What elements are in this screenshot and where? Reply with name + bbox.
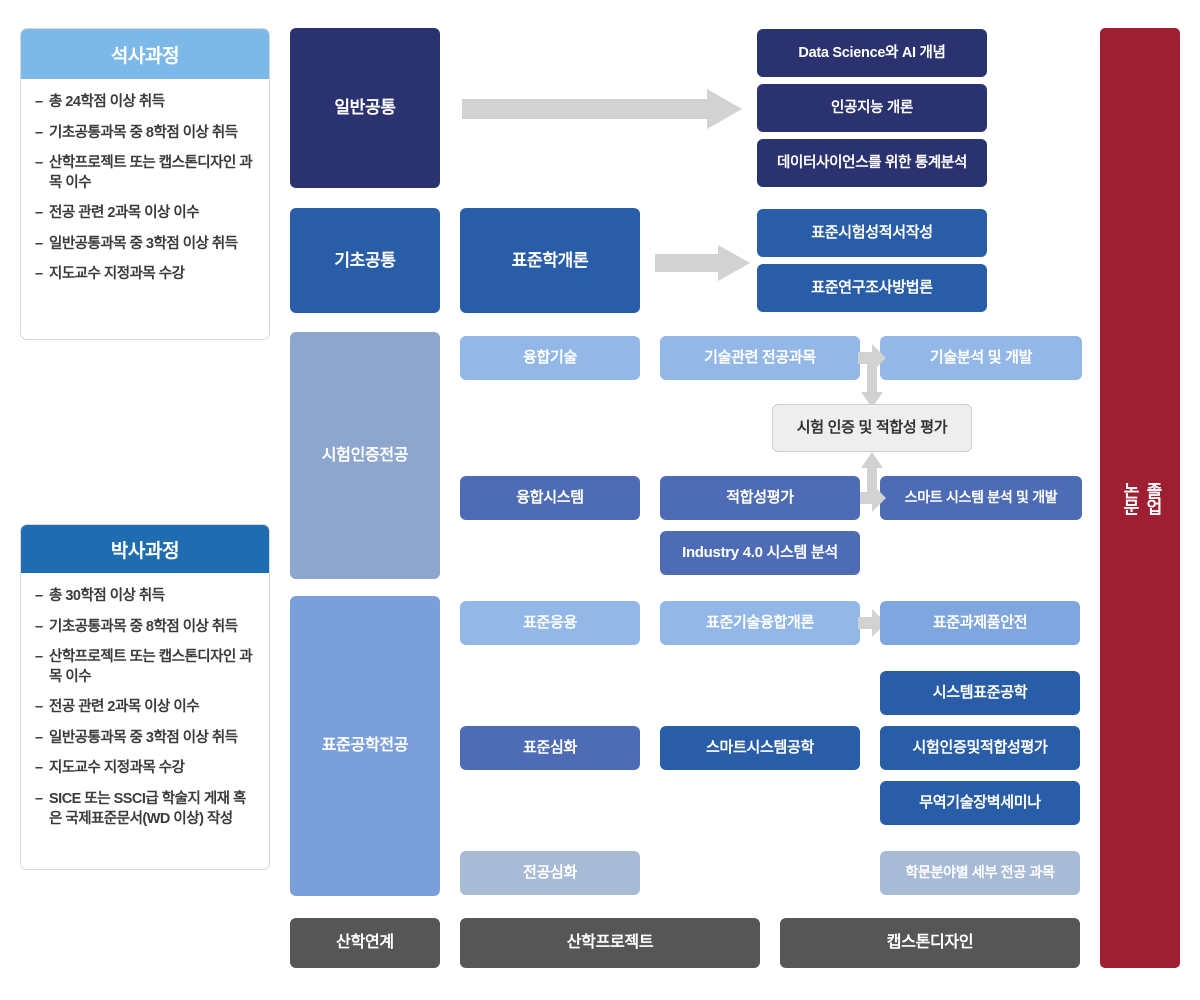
list-item: –일반공통과목 중 3학점 이상 취득 [35, 235, 255, 255]
course-technology-analysis-development[interactable]: 기술분석 및 개발 [880, 336, 1082, 380]
category-standard-engineering-major[interactable]: 표준공학전공 [290, 596, 440, 896]
graduation-thesis-label: 졸업 논문 [1117, 482, 1163, 515]
list-item: –전공 관련 2과목 이상 이수 [35, 698, 255, 718]
bullet-dash-icon: – [35, 124, 49, 144]
bottom-industry-project[interactable]: 산학프로젝트 [460, 918, 760, 968]
list-item: –기초공통과목 중 8학점 이상 취득 [35, 124, 255, 144]
category-basic-common[interactable]: 기초공통 [290, 208, 440, 313]
course-major-advanced[interactable]: 전공심화 [460, 851, 640, 895]
bullet-dash-icon: – [35, 265, 49, 285]
list-item: –기초공통과목 중 8학점 이상 취득 [35, 618, 255, 638]
course-standard-application[interactable]: 표준응용 [460, 601, 640, 645]
course-standard-tech-convergence-intro[interactable]: 표준기술융합개론 [660, 601, 860, 645]
bullet-dash-icon: – [35, 698, 49, 718]
category-test-certification-major[interactable]: 시험인증전공 [290, 332, 440, 579]
arrow-standards-intro-to-courses [655, 245, 750, 281]
arrow-conformity-to-smart-system [860, 484, 886, 512]
course-convergence-system[interactable]: 융합시스템 [460, 476, 640, 520]
course-standard-product-safety[interactable]: 표준과제품안전 [880, 601, 1080, 645]
course-statistics-for-data-science[interactable]: 데이터사이언스를 위한 통계분석 [757, 139, 987, 187]
course-conformity-assessment[interactable]: 적합성평가 [660, 476, 860, 520]
bullet-dash-icon: – [35, 648, 49, 687]
course-data-science-ai[interactable]: Data Science와 AI 개념 [757, 29, 987, 77]
bullet-dash-icon: – [35, 235, 49, 255]
course-test-cert-conformity-evaluation[interactable]: 시험인증및적합성평가 [880, 726, 1080, 770]
masters-panel-title: 석사과정 [111, 41, 179, 68]
course-standard-research-methodology[interactable]: 표준연구조사방법론 [757, 264, 987, 312]
doctoral-panel-header: 박사과정 [21, 525, 269, 573]
course-system-standard-engineering[interactable]: 시스템표준공학 [880, 671, 1080, 715]
list-item: –지도교수 지정과목 수강 [35, 759, 255, 779]
course-smart-system-engineering[interactable]: 스마트시스템공학 [660, 726, 860, 770]
course-standards-introduction[interactable]: 표준학개론 [460, 208, 640, 313]
list-item: –총 30학점 이상 취득 [35, 587, 255, 607]
list-item: –총 24학점 이상 취득 [35, 93, 255, 113]
doctoral-panel-title: 박사과정 [111, 536, 179, 563]
arrow-down-to-evaluation [861, 360, 883, 408]
doctoral-requirements-list: –총 30학점 이상 취득 –기초공통과목 중 8학점 이상 취득 –산학프로젝… [21, 573, 269, 850]
arrow-general-common-to-courses [462, 89, 742, 129]
doctoral-requirements-panel: 박사과정 –총 30학점 이상 취득 –기초공통과목 중 8학점 이상 취득 –… [20, 524, 270, 870]
course-tbt-seminar[interactable]: 무역기술장벽세미나 [880, 781, 1080, 825]
course-technology-related-major[interactable]: 기술관련 전공과목 [660, 336, 860, 380]
bullet-dash-icon: – [35, 93, 49, 113]
course-standard-advanced[interactable]: 표준심화 [460, 726, 640, 770]
list-item: –산학프로젝트 또는 캡스톤디자인 과목 이수 [35, 648, 255, 687]
graduation-thesis-bar[interactable]: 졸업 논문 [1100, 28, 1180, 968]
masters-requirements-list: –총 24학점 이상 취득 –기초공통과목 중 8학점 이상 취득 –산학프로젝… [21, 79, 269, 306]
bullet-dash-icon: – [35, 790, 49, 829]
bullet-dash-icon: – [35, 587, 49, 607]
course-smart-system-analysis-development[interactable]: 스마트 시스템 분석 및 개발 [880, 476, 1082, 520]
course-industry40-system-analysis[interactable]: Industry 4.0 시스템 분석 [660, 531, 860, 575]
course-ai-introduction[interactable]: 인공지능 개론 [757, 84, 987, 132]
list-item: –지도교수 지정과목 수강 [35, 265, 255, 285]
bullet-dash-icon: – [35, 154, 49, 193]
bullet-dash-icon: – [35, 759, 49, 779]
bottom-industry-academic-link[interactable]: 산학연계 [290, 918, 440, 968]
bullet-dash-icon: – [35, 618, 49, 638]
course-convergence-technology[interactable]: 융합기술 [460, 336, 640, 380]
list-item: –일반공통과목 중 3학점 이상 취득 [35, 729, 255, 749]
list-item: –전공 관련 2과목 이상 이수 [35, 204, 255, 224]
masters-panel-header: 석사과정 [21, 29, 269, 79]
evaluation-center-box[interactable]: 시험 인증 및 적합성 평가 [772, 404, 972, 452]
course-standard-test-report-writing[interactable]: 표준시험성적서작성 [757, 209, 987, 257]
bottom-capstone-design[interactable]: 캡스톤디자인 [780, 918, 1080, 968]
bullet-dash-icon: – [35, 729, 49, 749]
category-general-common[interactable]: 일반공통 [290, 28, 440, 188]
bullet-dash-icon: – [35, 204, 49, 224]
masters-requirements-panel: 석사과정 –총 24학점 이상 취득 –기초공통과목 중 8학점 이상 취득 –… [20, 28, 270, 340]
list-item: –SICE 또는 SSCI급 학술지 게재 혹은 국제표준문서(WD 이상) 작… [35, 790, 255, 829]
list-item: –산학프로젝트 또는 캡스톤디자인 과목 이수 [35, 154, 255, 193]
curriculum-diagram: 석사과정 –총 24학점 이상 취득 –기초공통과목 중 8학점 이상 취득 –… [0, 0, 1200, 1000]
course-discipline-specific-major[interactable]: 학문분야별 세부 전공 과목 [880, 851, 1080, 895]
